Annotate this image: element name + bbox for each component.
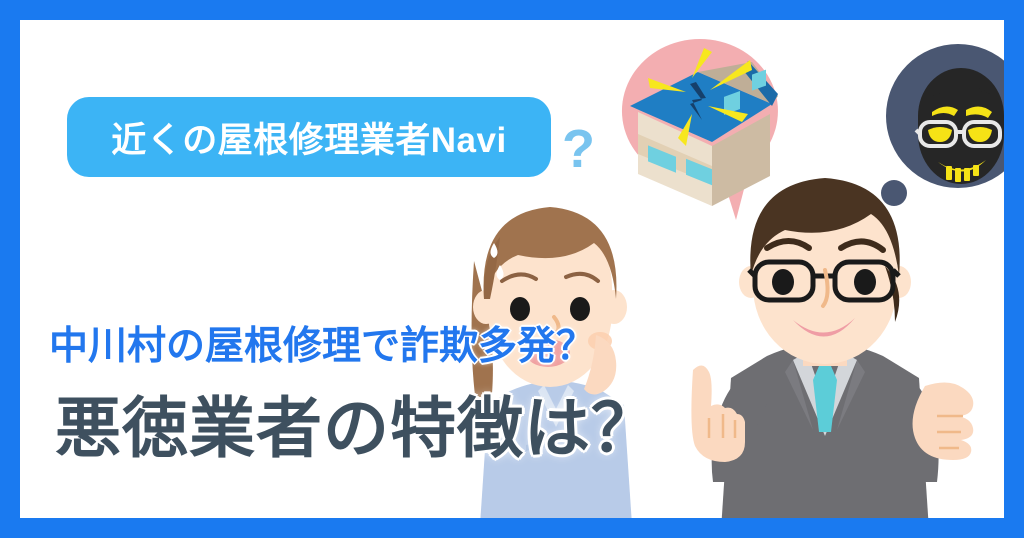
headline-subtitle: 中川村の屋根修理で詐欺多発？ bbox=[49, 315, 595, 371]
villain-face bbox=[916, 68, 1004, 184]
decorative-question-mark: ? bbox=[562, 118, 595, 180]
man-eye-left bbox=[772, 269, 794, 295]
banner-inner-white-area: 近くの屋根修理業者Navi ? 中川村の屋根修理で詐欺多発？ 悪徳業者の特徴は？ bbox=[20, 20, 1004, 518]
banner-canvas: 近くの屋根修理業者Navi ? 中川村の屋根修理で詐欺多発？ 悪徳業者の特徴は？ bbox=[0, 0, 1024, 538]
pointing-businessman bbox=[675, 170, 975, 518]
site-name-badge[interactable]: 近くの屋根修理業者Navi bbox=[67, 97, 551, 177]
man-eye-right bbox=[854, 269, 876, 295]
headline-title: 悪徳業者の特徴は？ bbox=[55, 375, 658, 471]
site-name-label: 近くの屋根修理業者Navi bbox=[111, 112, 506, 163]
